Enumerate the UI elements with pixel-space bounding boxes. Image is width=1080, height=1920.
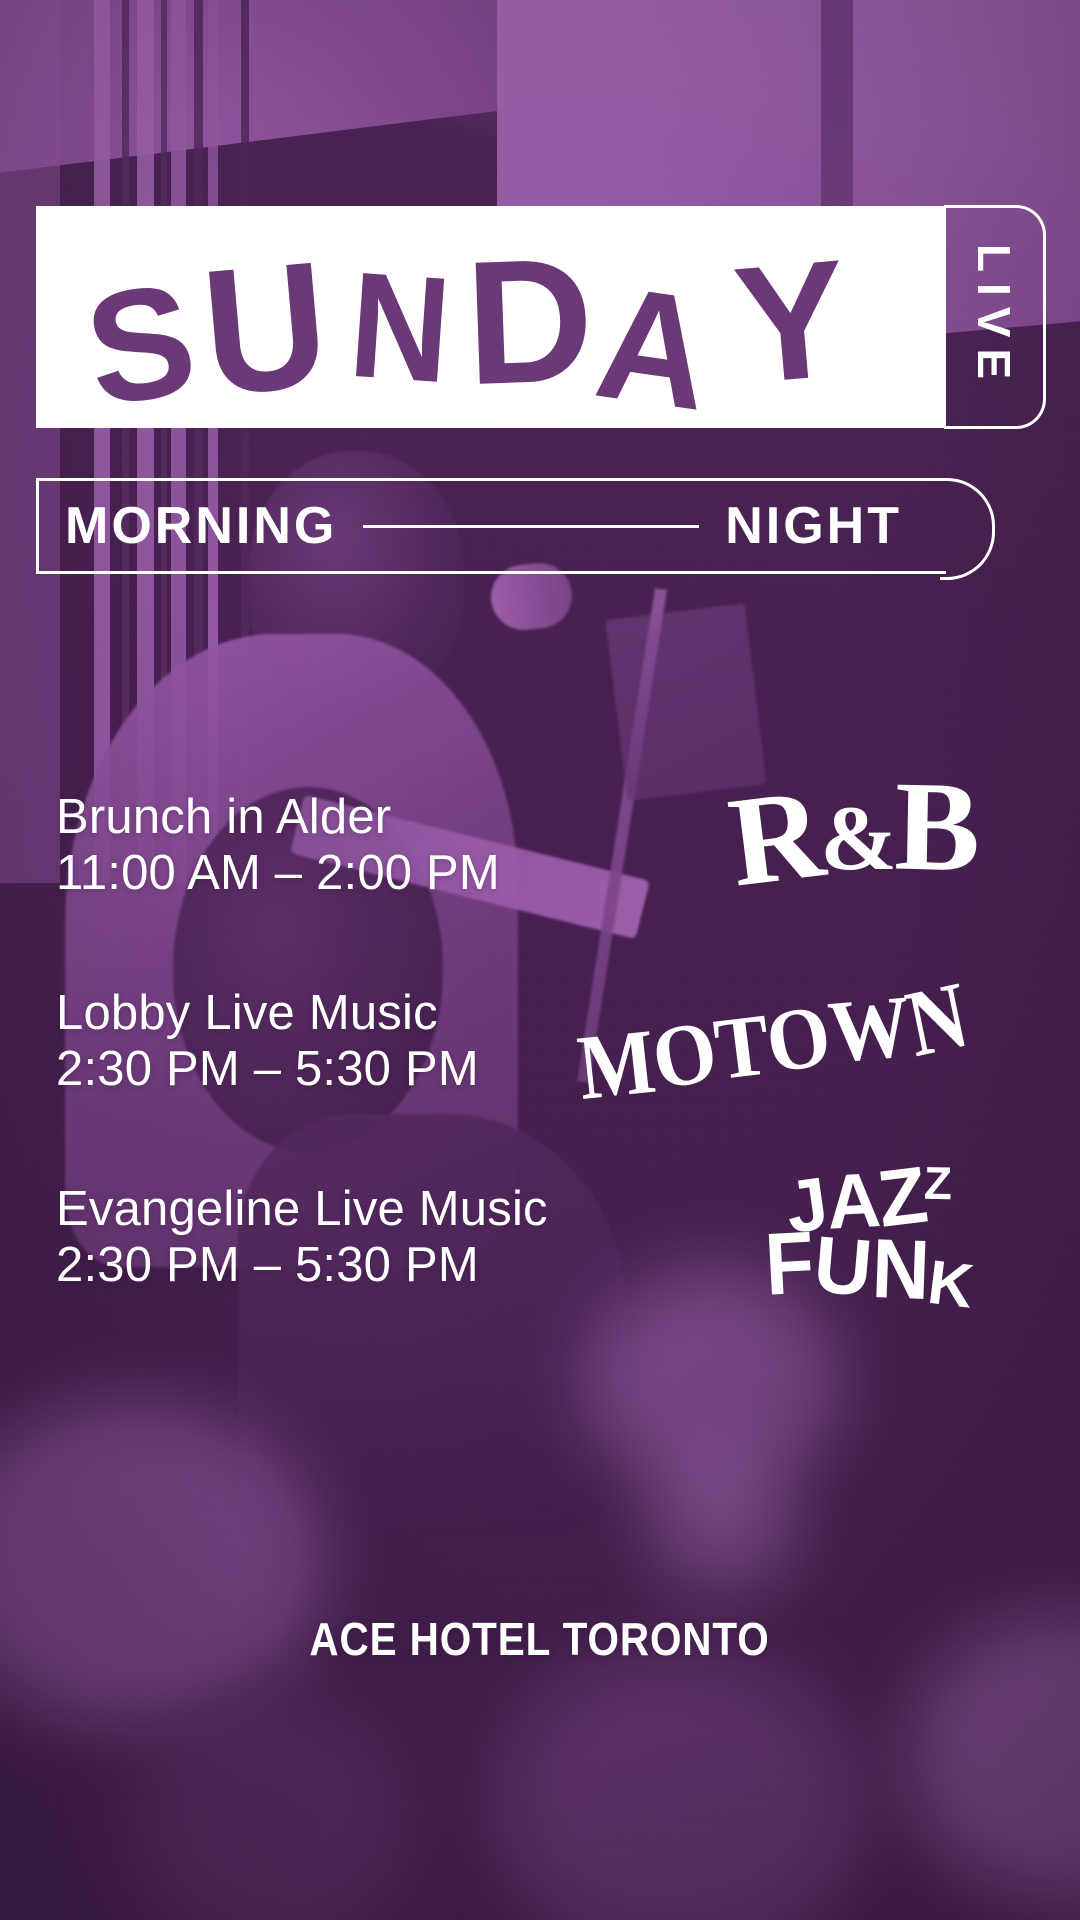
badge-letter: W [825,983,913,1077]
wordmark-letter-u: U [196,235,333,423]
badge-letter: M [574,1016,659,1116]
wordmark-letter-d: D [463,232,595,412]
badge-letter: U [811,1230,875,1304]
venue-name: ACE HOTEL TORONTO [310,1612,770,1666]
badge-letter: K [925,1255,976,1313]
badge-letter: B [893,762,979,891]
schedule-item: Brunch in Alder 11:00 AM – 2:00 PM R&B [56,790,1036,986]
wordmark-letter-y: Y [729,236,853,411]
morning-night-bar: MORNING NIGHT [36,478,946,574]
wordmark-letter-a: A [588,261,718,435]
live-badge: LIVE [944,205,1046,429]
live-label: LIVE [967,244,1021,390]
logo-white-panel: S U N D A Y [36,206,946,428]
badge-line-funk: FUNK [763,1228,976,1308]
sunday-live-logo: S U N D A Y LIVE MORNING NIGHT [36,206,1048,574]
badge-letter: R [722,768,827,906]
wordmark-letter-n: N [345,249,454,406]
wordmark-sunday: S U N D A Y [36,206,946,428]
bar-divider-rule [363,525,699,528]
genre-badge-rnb: R&B [725,759,982,904]
badge-letter: & [820,792,895,884]
schedule-item: Evangeline Live Music 2:30 PM – 5:30 PM … [56,1182,1036,1378]
venue-footer: ACE HOTEL TORONTO [0,1612,1080,1666]
badge-letter: F [763,1225,816,1303]
poster-canvas: S U N D A Y LIVE MORNING NIGHT Brunch in… [0,0,1080,1920]
badge-letter: Z [924,1164,953,1204]
badge-letter: N [870,1233,930,1307]
bar-label-night: NIGHT [725,496,902,556]
bar-label-morning: MORNING [65,496,337,556]
schedule-list: Brunch in Alder 11:00 AM – 2:00 PM R&B L… [56,790,1036,1378]
genre-badge-jazz-funk: JAZZ FUNK [765,1168,974,1302]
wordmark-letter-s: S [76,259,204,431]
